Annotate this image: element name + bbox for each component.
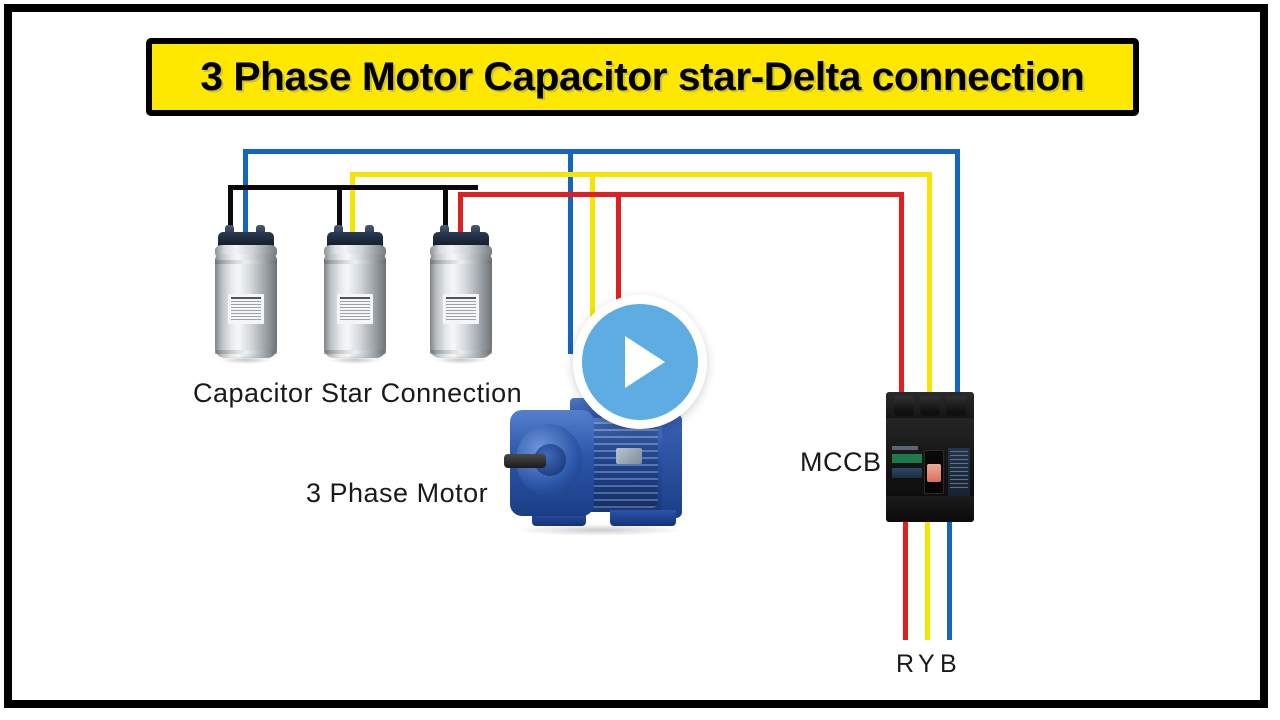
wire-yellow-bus-top [350, 172, 932, 177]
wire-yellow-to-mccb [927, 172, 932, 396]
capacitor-3[interactable] [430, 232, 492, 362]
wire-supply-r [903, 516, 908, 640]
title-banner: 3 Phase Motor Capacitor star-Delta conne… [146, 38, 1139, 116]
mccb-bottom-terminal-r [894, 396, 914, 414]
wire-supply-b [947, 516, 952, 640]
capacitor-1[interactable] [215, 232, 277, 362]
play-button-icon[interactable] [573, 295, 707, 429]
wire-blue-bus-top [243, 149, 960, 154]
capacitor-shadow [219, 356, 273, 364]
mccb-spec-label [948, 448, 970, 498]
play-triangle-icon [625, 336, 665, 388]
diagram-canvas: 3 Phase Motor Capacitor star-Delta conne… [0, 0, 1280, 720]
wire-blue-to-mccb [955, 149, 960, 396]
wire-supply-y [925, 516, 930, 640]
wire-red-to-mccb [899, 192, 904, 396]
mccb-breaker[interactable] [886, 392, 974, 524]
mccb-bottom-terminal-block [886, 496, 974, 522]
capacitor-2[interactable] [324, 232, 386, 362]
wire-black-star-bus [228, 185, 478, 190]
mccb-label: MCCB [800, 447, 882, 478]
capacitor-label [443, 294, 479, 324]
mccb-brand-mark [892, 446, 918, 450]
phase-label-r: R [896, 650, 914, 679]
phase-label-y: Y [918, 650, 935, 679]
capacitor-shadow [434, 356, 488, 364]
capacitor-shadow [328, 356, 382, 364]
wire-red-bus-top [458, 192, 904, 197]
capacitor-bank-label: Capacitor Star Connection [193, 378, 522, 409]
capacitor-label [228, 294, 264, 324]
mccb-bottom-terminal-b [946, 396, 966, 414]
capacitor-label [337, 294, 373, 324]
motor-label: 3 Phase Motor [306, 478, 488, 509]
phase-label-b: B [940, 650, 957, 679]
mccb-green-band [892, 454, 922, 463]
mccb-housing [886, 418, 974, 500]
motor-nameplate [616, 448, 642, 464]
mccb-rating-plate [892, 468, 922, 478]
motor-shadow [514, 524, 684, 536]
mccb-bottom-terminal-y [920, 396, 940, 414]
wire-blue-to-motor [568, 149, 573, 354]
title-text: 3 Phase Motor Capacitor star-Delta conne… [201, 55, 1085, 100]
mccb-toggle-handle[interactable] [927, 464, 941, 482]
motor-shaft [504, 454, 546, 468]
